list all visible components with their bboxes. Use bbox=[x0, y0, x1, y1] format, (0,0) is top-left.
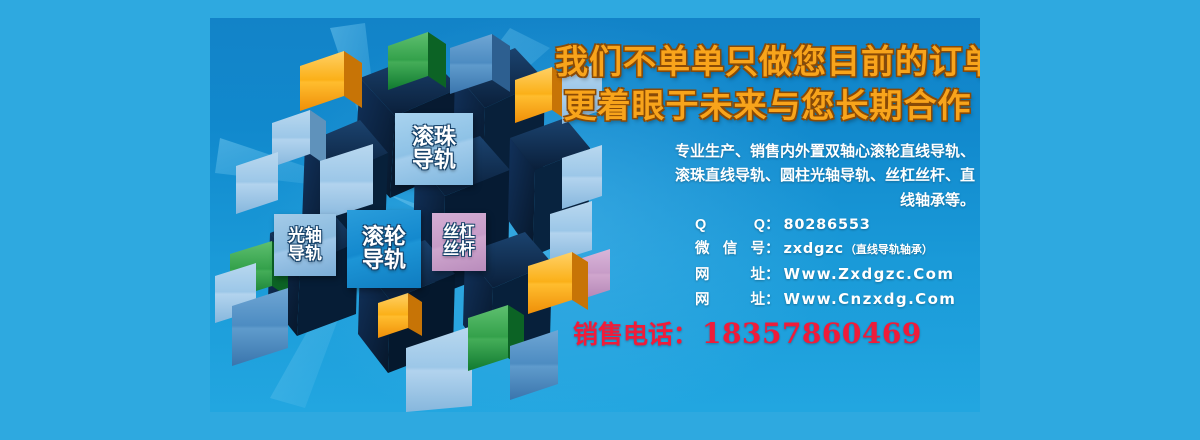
sales-phone-label: 销售电话： bbox=[573, 321, 698, 349]
banner-stage: 滚珠 导轨 光轴 导轨 滚轮 导轨 丝杠 丝杆 我们不单单只做您目前的订单 更着… bbox=[0, 0, 1200, 440]
contact-label-website-2: 网 址 bbox=[695, 289, 765, 313]
contact-row-qq: Q Q ： 80286553 bbox=[695, 214, 980, 238]
contact-label-website-1: 网 址 bbox=[695, 264, 765, 288]
banner-panel: 滚珠 导轨 光轴 导轨 滚轮 导轨 丝杠 丝杆 我们不单单只做您目前的订单 更着… bbox=[210, 18, 980, 412]
text-content: 我们不单单只做您目前的订单 更着眼于未来与您长期合作 专业生产、销售内外置双轴心… bbox=[555, 18, 980, 412]
contact-row-website-2: 网 址 ： Www.Cnzxdg.Com bbox=[695, 287, 980, 313]
contact-colon-website-1: ： bbox=[765, 264, 780, 288]
headline-line-1: 我们不单单只做您目前的订单 bbox=[555, 40, 980, 84]
headline: 我们不单单只做您目前的订单 更着眼于未来与您长期合作 bbox=[555, 40, 980, 127]
product-label-gunzhu-daogui: 滚珠 导轨 bbox=[395, 113, 473, 185]
contact-row-website-1: 网 址 ： Www.Zxdgzc.Com bbox=[695, 262, 980, 288]
description-line-1: 专业生产、销售内外置双轴心滚轮直线导轨、 bbox=[595, 140, 975, 164]
sales-phone: 销售电话：18357860469 bbox=[573, 315, 973, 351]
contact-label-qq: Q Q bbox=[695, 214, 765, 238]
contact-value-website-1[interactable]: Www.Zxdgzc.Com bbox=[784, 262, 955, 287]
description-line-3: 线轴承等。 bbox=[595, 189, 975, 213]
contact-label-wechat: 微 信 号 bbox=[695, 238, 765, 262]
product-label-line2: 导轨 bbox=[412, 149, 456, 172]
headline-line-2: 更着眼于未来与您长期合作 bbox=[555, 84, 980, 128]
product-label-line1: 滚珠 bbox=[412, 126, 456, 149]
contact-row-wechat: 微 信 号 ： zxdgzc （直线导轨轴承） bbox=[695, 238, 980, 262]
product-label-gunlun-daogui: 滚轮 导轨 bbox=[347, 210, 421, 288]
product-label-line2: 导轨 bbox=[362, 249, 406, 272]
description-text: 专业生产、销售内外置双轴心滚轮直线导轨、 滚珠直线导轨、圆柱光轴导轨、丝杠丝杆、… bbox=[595, 140, 975, 213]
contact-colon-qq: ： bbox=[765, 214, 780, 238]
product-label-line1: 丝杠 bbox=[443, 225, 475, 242]
contact-value-wechat: zxdgzc bbox=[784, 238, 844, 262]
description-line-2: 滚珠直线导轨、圆柱光轴导轨、丝杠丝杆、直 bbox=[595, 164, 975, 188]
product-label-line2: 导轨 bbox=[288, 245, 322, 263]
contact-colon-website-2: ： bbox=[765, 289, 780, 313]
product-label-line1: 光轴 bbox=[288, 227, 322, 245]
sales-phone-number[interactable]: 18357860469 bbox=[702, 317, 922, 350]
product-label-line1: 滚轮 bbox=[362, 226, 406, 249]
product-label-sigang-sigan: 丝杠 丝杆 bbox=[432, 213, 486, 271]
contact-block: Q Q ： 80286553 微 信 号 ： zxdgzc （直线导轨轴承） bbox=[695, 214, 980, 313]
contact-colon-wechat: ： bbox=[765, 238, 780, 262]
contact-value-qq: 80286553 bbox=[784, 214, 871, 238]
product-label-guangzhou-daogui: 光轴 导轨 bbox=[274, 214, 336, 276]
contact-value-website-2[interactable]: Www.Cnzxdg.Com bbox=[784, 287, 957, 312]
contact-note-wechat: （直线导轨轴承） bbox=[845, 241, 933, 259]
product-label-line2: 丝杆 bbox=[443, 242, 475, 259]
